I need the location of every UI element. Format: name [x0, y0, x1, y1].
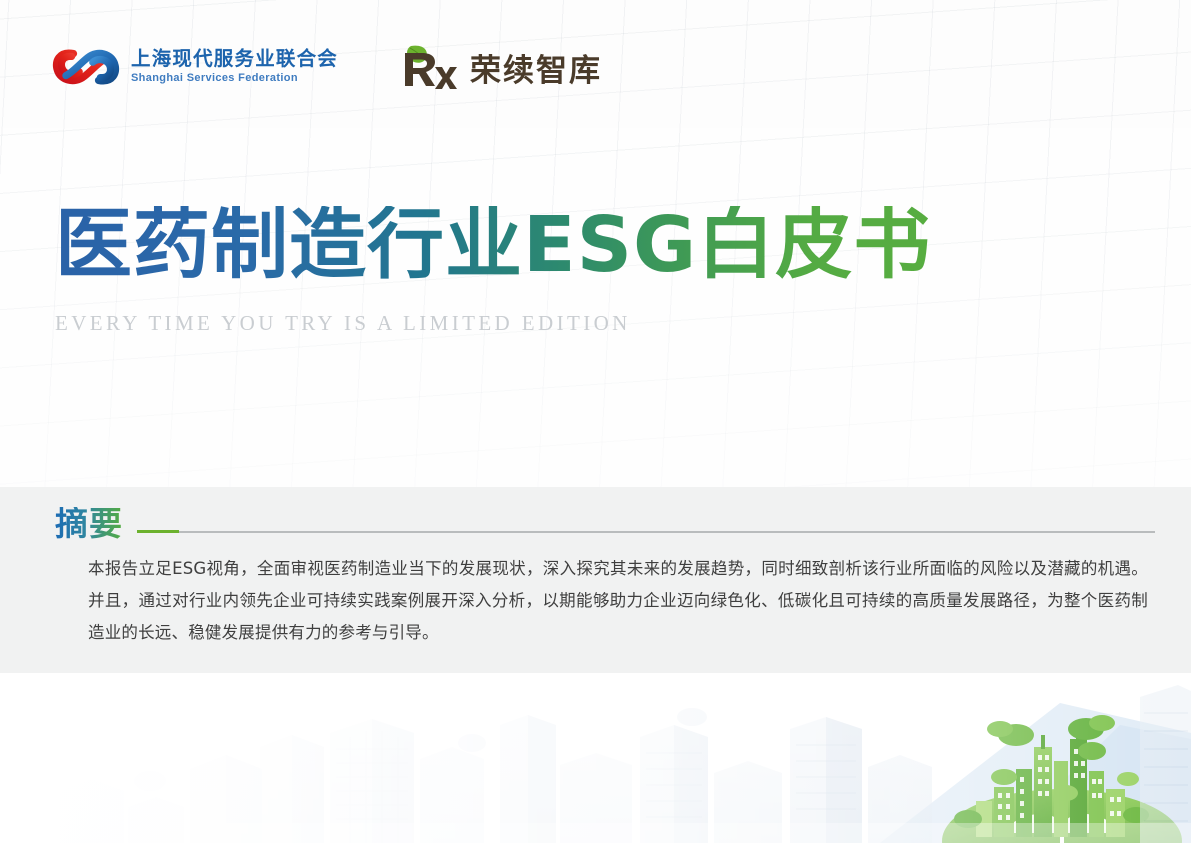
rx-name-cn: 荣续智库: [470, 45, 602, 90]
abstract-divider: [137, 530, 1155, 533]
abstract-section: 摘要 本报告立足ESG视角，全面审视医药制造业当下的发展现状，深入探究其未来的发…: [0, 487, 1191, 673]
divider-line: [179, 531, 1155, 533]
logo-bar: 上海现代服务业联合会 Shanghai Services Federation …: [52, 38, 602, 96]
abstract-body-text: 本报告立足ESG视角，全面审视医药制造业当下的发展现状，深入探究其未来的发展趋势…: [88, 553, 1148, 649]
abstract-header: 摘要: [55, 507, 1155, 540]
ssf-logo-text: 上海现代服务业联合会 Shanghai Services Federation: [131, 50, 338, 85]
page-title: 医药制造行业ESG白皮书: [55, 206, 1135, 287]
abstract-heading: 摘要: [55, 507, 123, 540]
rx-leaf-mark-icon: [398, 43, 458, 91]
divider-accent-segment: [137, 530, 179, 533]
double-loop-infinity-mark-icon: [52, 44, 120, 90]
logo-rongxu-think-tank: 荣续智库: [398, 43, 602, 91]
page-subtitle: EVERY TIME YOU TRY IS A LIMITED EDITION: [55, 311, 1135, 336]
ssf-name-en: Shanghai Services Federation: [131, 73, 338, 84]
isometric-green-city-skyline-icon: [0, 673, 1191, 843]
ssf-name-cn: 上海现代服务业联合会: [131, 50, 338, 70]
cover-page: 上海现代服务业联合会 Shanghai Services Federation …: [0, 0, 1191, 843]
footer-illustration: [0, 673, 1191, 843]
hero-section: 医药制造行业ESG白皮书 EVERY TIME YOU TRY IS A LIM…: [55, 206, 1135, 336]
logo-shanghai-services-federation: 上海现代服务业联合会 Shanghai Services Federation: [52, 44, 338, 90]
